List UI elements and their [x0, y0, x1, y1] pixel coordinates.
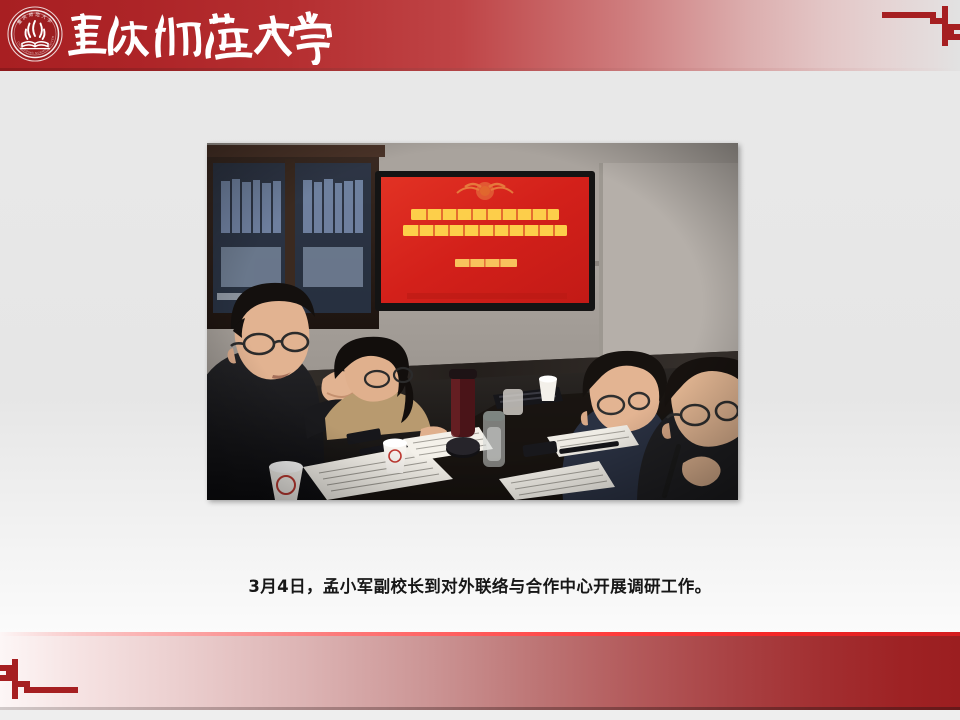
meander-decoration-bottom-left	[0, 659, 78, 704]
photo-caption: 3月4日，孟小军副校长到对外联络与合作中心开展调研工作。	[0, 573, 960, 597]
page-title	[64, 4, 334, 66]
university-seal-icon: 重庆师范大学 CHONGQING NORMAL UNIVERSITY	[7, 5, 63, 63]
photo-image	[207, 143, 738, 500]
header-band: 重庆师范大学 CHONGQING NORMAL UNIVERSITY	[0, 0, 960, 71]
meander-decoration-top-right	[882, 6, 960, 51]
footer-base-strip	[0, 710, 960, 720]
meeting-photo	[207, 143, 738, 500]
footer-band	[0, 632, 960, 710]
